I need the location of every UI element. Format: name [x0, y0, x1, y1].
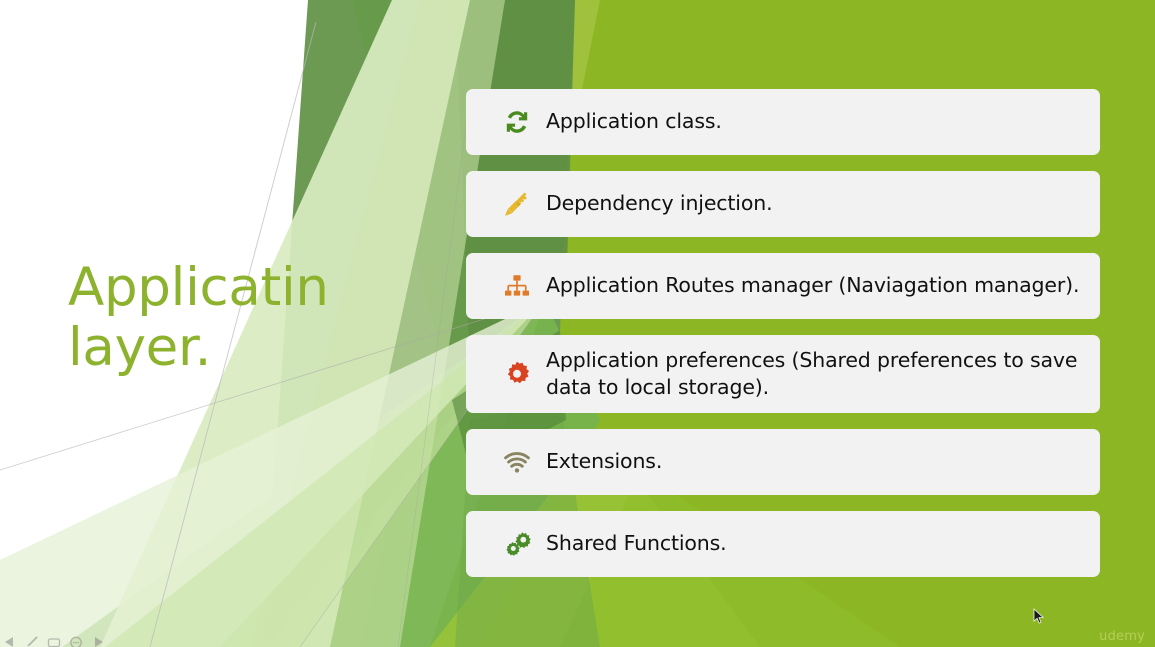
next-slide-arrow-icon[interactable] [90, 634, 106, 647]
wifi-icon [488, 442, 546, 482]
card-shared-functions[interactable]: Shared Functions. [466, 511, 1100, 577]
card-application-preferences[interactable]: Application preferences (Shared preferen… [466, 335, 1100, 413]
card-label: Application class. [546, 108, 732, 135]
double-gears-icon [488, 524, 546, 564]
card-dependency-injection[interactable]: Dependency injection. [466, 171, 1100, 237]
sitemap-icon [488, 266, 546, 306]
mouse-cursor [1033, 608, 1045, 626]
card-label: Dependency injection. [546, 190, 782, 217]
pen-tool-icon[interactable] [24, 634, 40, 647]
card-routes-manager[interactable]: Application Routes manager (Naviagation … [466, 253, 1100, 319]
udemy-watermark: udemy [1099, 629, 1145, 644]
card-label: Extensions. [546, 448, 672, 475]
presentation-toolbar[interactable] [2, 634, 106, 647]
more-options-icon[interactable] [68, 634, 84, 647]
previous-slide-arrow-icon[interactable] [2, 634, 18, 647]
slide-title: Applicatin layer. [68, 258, 398, 379]
presentation-slide: Applicatin layer. Application class. [0, 0, 1155, 647]
card-application-class[interactable]: Application class. [466, 89, 1100, 155]
gear-icon [488, 354, 546, 394]
sync-refresh-icon [488, 102, 546, 142]
syringe-icon [488, 184, 546, 224]
card-label: Application Routes manager (Naviagation … [546, 272, 1089, 299]
card-label: Shared Functions. [546, 530, 737, 557]
card-extensions[interactable]: Extensions. [466, 429, 1100, 495]
slide-navigator-icon[interactable] [46, 634, 62, 647]
card-label: Application preferences (Shared preferen… [546, 347, 1100, 401]
